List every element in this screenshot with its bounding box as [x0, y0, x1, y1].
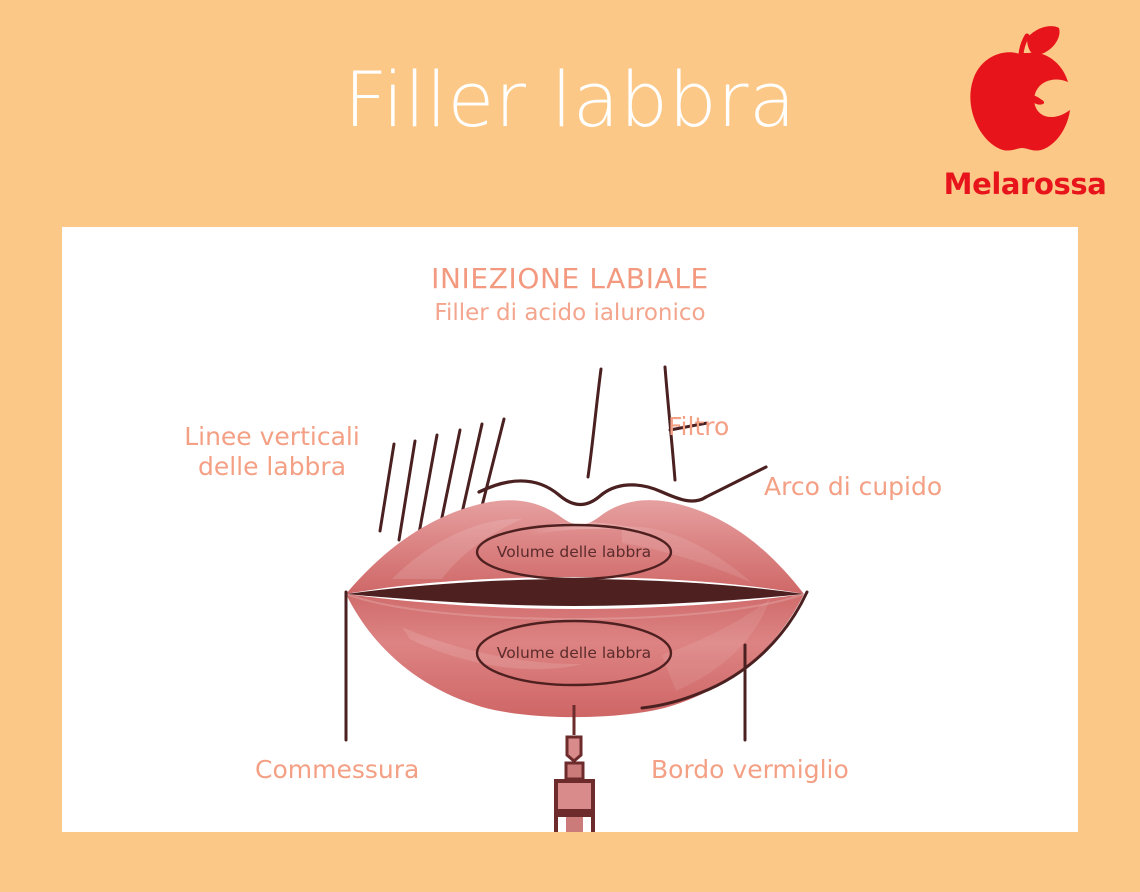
lower-lip-volume-label: Volume delle labbra	[497, 644, 651, 662]
callout-vermilion-border: Bordo vermiglio	[651, 755, 849, 785]
content-card: INIEZIONE LABIALE Filler di acido ialuro…	[62, 227, 1078, 832]
syringe-icon	[556, 705, 593, 832]
brand-name: Melarossa	[930, 170, 1120, 199]
callout-cupid-bow: Arco di cupido	[764, 472, 942, 502]
lips-diagram: Volume delle labbra Volume delle labbra	[62, 227, 1078, 832]
callout-vertical-lines: Linee verticali delle labbra	[172, 422, 372, 481]
callout-vertical-lines-line2: delle labbra	[198, 452, 346, 481]
brand-logo: Melarossa	[930, 22, 1120, 207]
callout-vertical-lines-line1: Linee verticali	[184, 422, 360, 451]
red-apple-icon	[958, 22, 1088, 154]
callout-philtrum: Filtro	[668, 412, 729, 442]
poster-root: Filler labbra Melarossa INIEZIONE LABIAL…	[0, 0, 1140, 892]
cupid-bow-leader	[479, 467, 766, 505]
upper-lip-volume-label: Volume delle labbra	[497, 543, 651, 561]
callout-commissure: Commessura	[255, 755, 419, 785]
